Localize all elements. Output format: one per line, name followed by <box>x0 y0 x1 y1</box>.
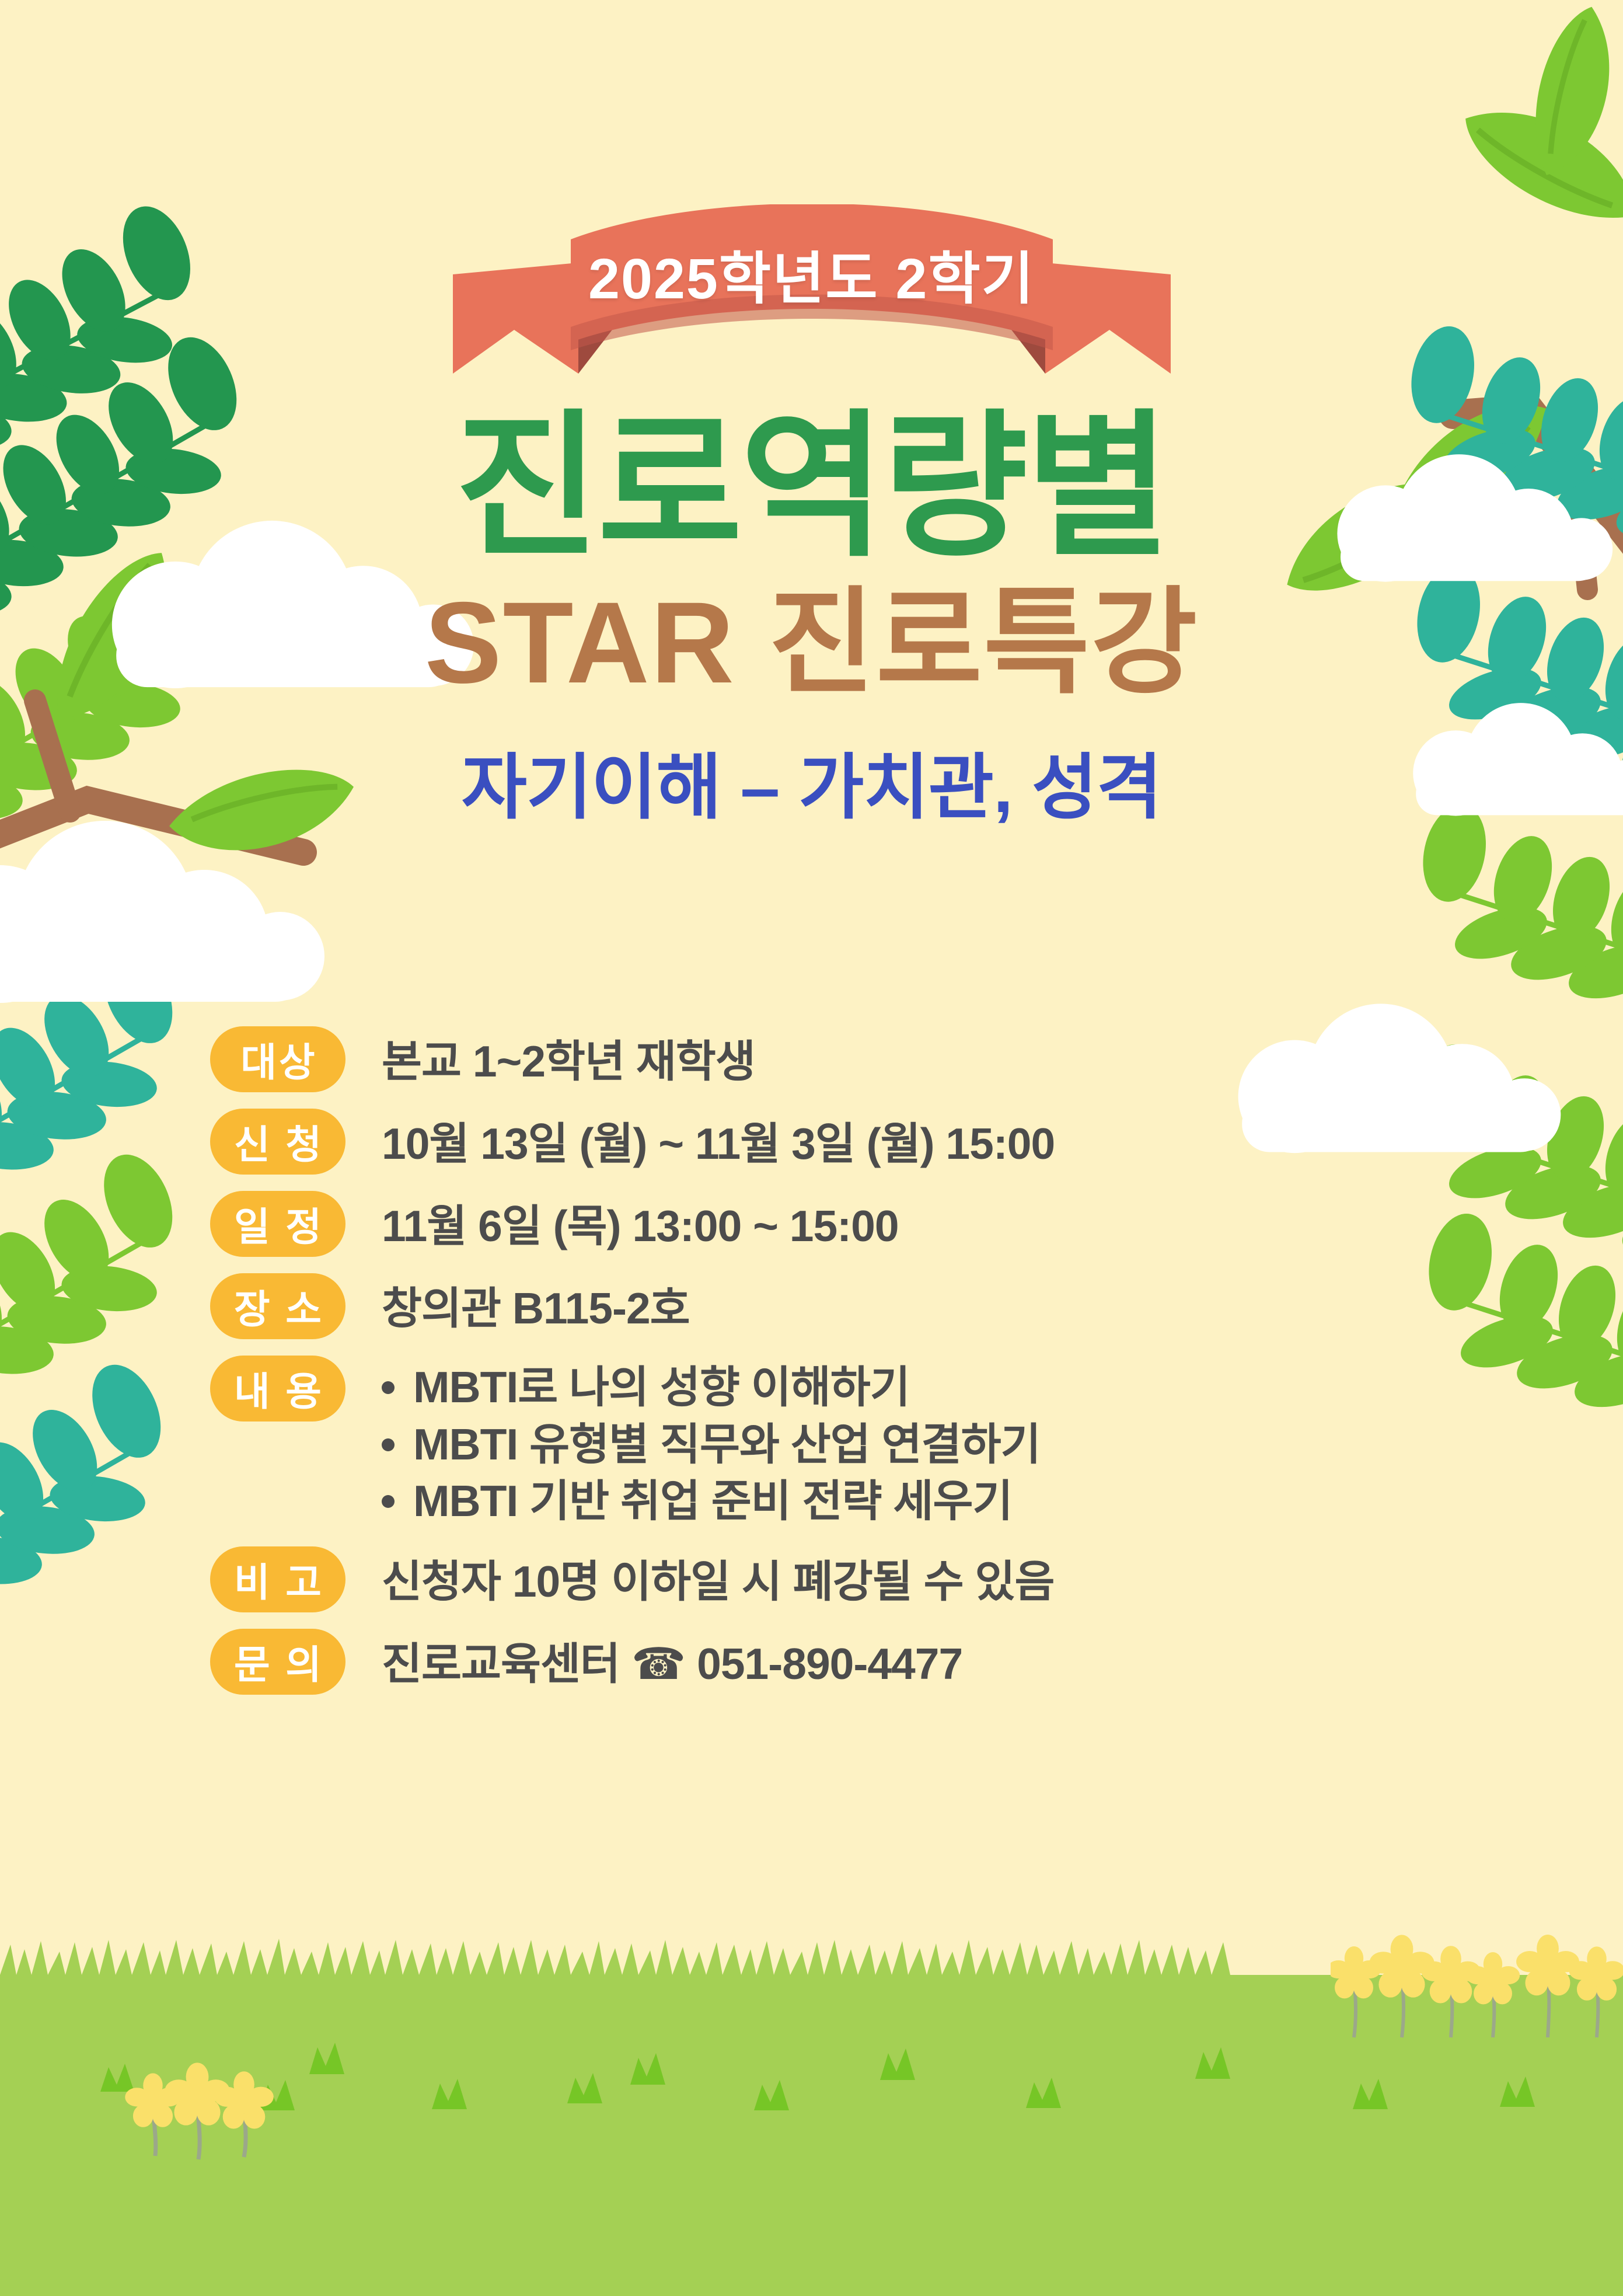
bullet-dot-icon <box>382 1381 395 1394</box>
info-value-schedule: 11월 6일 (목) 13:00 ~ 15:00 <box>345 1191 1482 1254</box>
page-title-main: 진로역량별 <box>0 409 1623 566</box>
info-value-contact: 진로교육센터 ☎ 051-890-4477 <box>345 1629 1482 1692</box>
contact-phone-number: 051-890-4477 <box>697 1639 962 1688</box>
title-block: 진로역량별 STAR 진로특강 자기이해 – 가치관, 성격 <box>0 409 1623 830</box>
info-row-contact: 문 의 진로교육센터 ☎ 051-890-4477 <box>210 1629 1482 1695</box>
list-item-label: MBTI로 나의 성향 이해하기 <box>413 1359 910 1416</box>
bullet-dot-icon <box>382 1495 395 1508</box>
page-title-sub: STAR 진로특강 <box>0 574 1623 711</box>
list-item: MBTI 유형별 직무와 산업 연결하기 <box>382 1416 1482 1473</box>
list-item-label: MBTI 유형별 직무와 산업 연결하기 <box>413 1416 1041 1473</box>
telephone-icon: ☎ <box>631 1638 685 1689</box>
info-row-remarks: 비 고 신청자 10명 이하일 시 폐강될 수 있음 <box>210 1546 1482 1612</box>
info-row-application: 신 청 10월 13일 (월) ~ 11월 3일 (월) 15:00 <box>210 1109 1482 1175</box>
info-row-target: 대상 본교 1~2학년 재학생 <box>210 1026 1482 1092</box>
info-value-content: MBTI로 나의 성향 이해하기 MBTI 유형별 직무와 산업 연결하기 MB… <box>345 1356 1482 1530</box>
ribbon-label: 2025학년도 2학기 <box>447 204 1177 374</box>
info-label-schedule: 일 정 <box>210 1191 345 1257</box>
ribbon-banner: 2025학년도 2학기 <box>0 204 1623 379</box>
list-item: MBTI 기반 취업 준비 전략 세우기 <box>382 1473 1482 1530</box>
list-item-label: MBTI 기반 취업 준비 전략 세우기 <box>413 1473 1012 1530</box>
grass-ground <box>0 1934 1623 2296</box>
info-value-remarks: 신청자 10명 이하일 시 폐강될 수 있음 <box>345 1546 1482 1609</box>
leaf-sprig-icon <box>0 1351 193 1656</box>
info-label-target: 대상 <box>210 1026 345 1092</box>
bullet-dot-icon <box>382 1438 395 1451</box>
contact-office-label: 진로교육센터 <box>382 1639 620 1688</box>
info-value-location: 창의관 B115-2호 <box>345 1273 1482 1336</box>
info-label-location: 장 소 <box>210 1273 345 1339</box>
info-row-schedule: 일 정 11월 6일 (목) 13:00 ~ 15:00 <box>210 1191 1482 1257</box>
page-title-theme: 자기이해 – 가치관, 성격 <box>0 745 1623 830</box>
content-bullet-list: MBTI로 나의 성향 이해하기 MBTI 유형별 직무와 산업 연결하기 MB… <box>382 1359 1482 1530</box>
info-label-contact: 문 의 <box>210 1629 345 1695</box>
info-row-content: 내 용 MBTI로 나의 성향 이해하기 MBTI 유형별 직무와 산업 연결하… <box>210 1356 1482 1530</box>
info-label-application: 신 청 <box>210 1109 345 1175</box>
poster: 2025학년도 2학기 진로역량별 STAR 진로특강 자기이해 – 가치관, … <box>0 0 1623 2296</box>
info-label-remarks: 비 고 <box>210 1546 345 1612</box>
info-value-application: 10월 13일 (월) ~ 11월 3일 (월) 15:00 <box>345 1109 1482 1172</box>
list-item: MBTI로 나의 성향 이해하기 <box>382 1359 1482 1416</box>
info-row-location: 장 소 창의관 B115-2호 <box>210 1273 1482 1339</box>
info-value-target: 본교 1~2학년 재학생 <box>345 1026 1482 1089</box>
info-label-content: 내 용 <box>210 1356 345 1422</box>
info-table: 대상 본교 1~2학년 재학생 신 청 10월 13일 (월) ~ 11월 3일… <box>210 1026 1482 1711</box>
